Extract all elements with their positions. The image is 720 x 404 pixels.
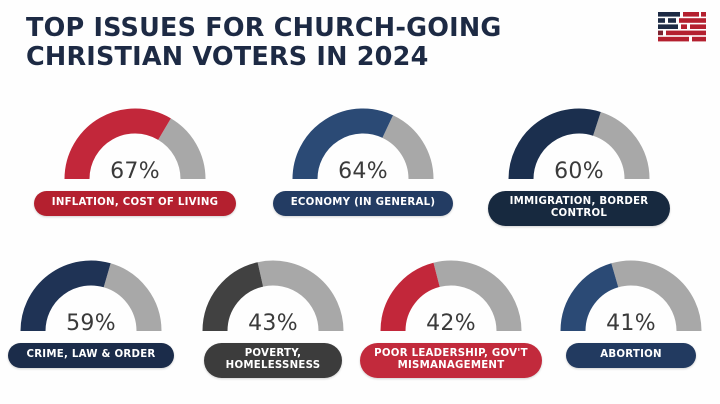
- gauge-label-pill-economy: ECONOMY (IN GENERAL): [273, 191, 454, 216]
- gauge-label-pill-poor-leadership: POOR LEADERSHIP, GOV'T MISMANAGEMENT: [360, 343, 542, 378]
- gauge-value-label: 60%: [500, 159, 658, 184]
- gauge-card-immigration: 60%IMMIGRATION, BORDER CONTROL: [474, 100, 684, 226]
- gauge-card-poor-leadership: 42%POOR LEADERSHIP, GOV'T MISMANAGEMENT: [346, 252, 556, 378]
- gauge-value-label: 64%: [284, 159, 442, 184]
- page-title: TOP ISSUES FOR CHURCH-GOING CHRISTIAN VO…: [26, 14, 626, 72]
- gauge-card-abortion: 41%ABORTION: [526, 252, 720, 368]
- gauge-label-pill-immigration: IMMIGRATION, BORDER CONTROL: [488, 191, 671, 226]
- gauge-label-pill-inflation: INFLATION, COST OF LIVING: [34, 191, 236, 216]
- gauge-card-inflation: 67%INFLATION, COST OF LIVING: [30, 100, 240, 216]
- infographic-canvas: TOP ISSUES FOR CHURCH-GOING CHRISTIAN VO…: [0, 0, 720, 404]
- gauge-value-label: 59%: [12, 311, 170, 336]
- gauge-value-label: 42%: [372, 311, 530, 336]
- gauge-economy: 64%: [284, 100, 442, 186]
- gauge-card-economy: 64%ECONOMY (IN GENERAL): [258, 100, 468, 216]
- gauge-value-label: 43%: [194, 311, 352, 336]
- gauge-value-label: 67%: [56, 159, 214, 184]
- header: TOP ISSUES FOR CHURCH-GOING CHRISTIAN VO…: [26, 14, 626, 72]
- gauge-crime: 59%: [12, 252, 170, 338]
- gauge-value-label: 41%: [552, 311, 710, 336]
- gauge-inflation: 67%: [56, 100, 214, 186]
- gauge-abortion: 41%: [552, 252, 710, 338]
- gauge-immigration: 60%: [500, 100, 658, 186]
- gauge-label-pill-crime: CRIME, LAW & ORDER: [8, 343, 173, 368]
- gauge-label-pill-poverty: POVERTY, HOMELESSNESS: [204, 343, 343, 378]
- american-flag-logo: [658, 12, 706, 45]
- gauge-label-pill-abortion: ABORTION: [566, 343, 696, 368]
- gauge-poor-leadership: 42%: [372, 252, 530, 338]
- gauge-card-crime: 59%CRIME, LAW & ORDER: [0, 252, 196, 368]
- gauge-poverty: 43%: [194, 252, 352, 338]
